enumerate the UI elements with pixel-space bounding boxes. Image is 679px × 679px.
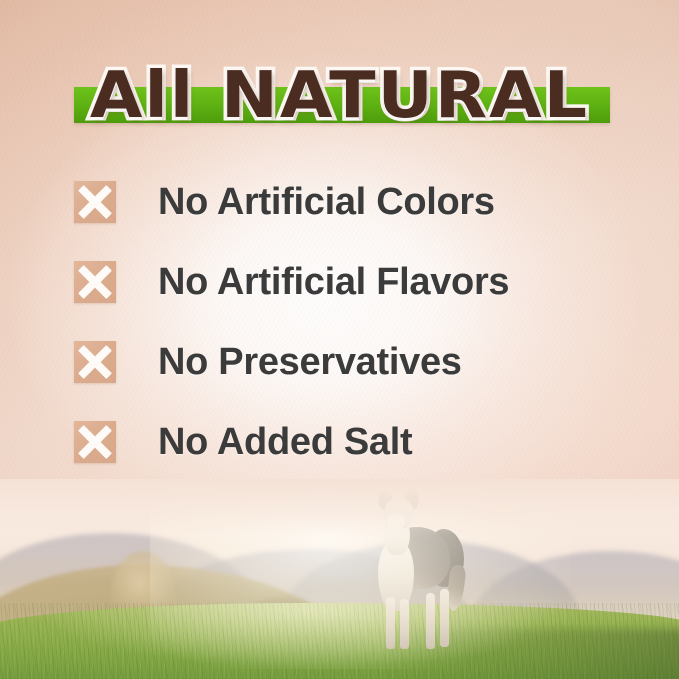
list-item: No Preservatives (74, 338, 634, 386)
headline-banner: All NATURAL (0, 52, 679, 144)
page-title: All NATURAL (0, 52, 679, 140)
dog-leg (400, 599, 409, 649)
claim-label: No Artificial Colors (158, 181, 495, 223)
landscape-photo (0, 479, 679, 679)
dog-leg (386, 597, 395, 649)
list-item: No Artificial Colors (74, 178, 634, 226)
dog-leg (440, 589, 449, 647)
x-mark-icon (74, 341, 116, 383)
x-mark-icon (74, 421, 116, 463)
list-item: No Artificial Flavors (74, 258, 634, 306)
all-natural-poster: All NATURAL No Artificial Colors No Arti… (0, 0, 679, 679)
x-mark-icon (74, 181, 116, 223)
list-item: No Added Salt (74, 418, 634, 466)
claim-label: No Added Salt (158, 421, 412, 463)
dog-leg (426, 593, 435, 649)
claim-label: No Preservatives (158, 341, 462, 383)
claims-list: No Artificial Colors No Artificial Flavo… (74, 178, 634, 498)
dog (352, 489, 472, 659)
claim-label: No Artificial Flavors (158, 261, 509, 303)
x-mark-icon (74, 261, 116, 303)
